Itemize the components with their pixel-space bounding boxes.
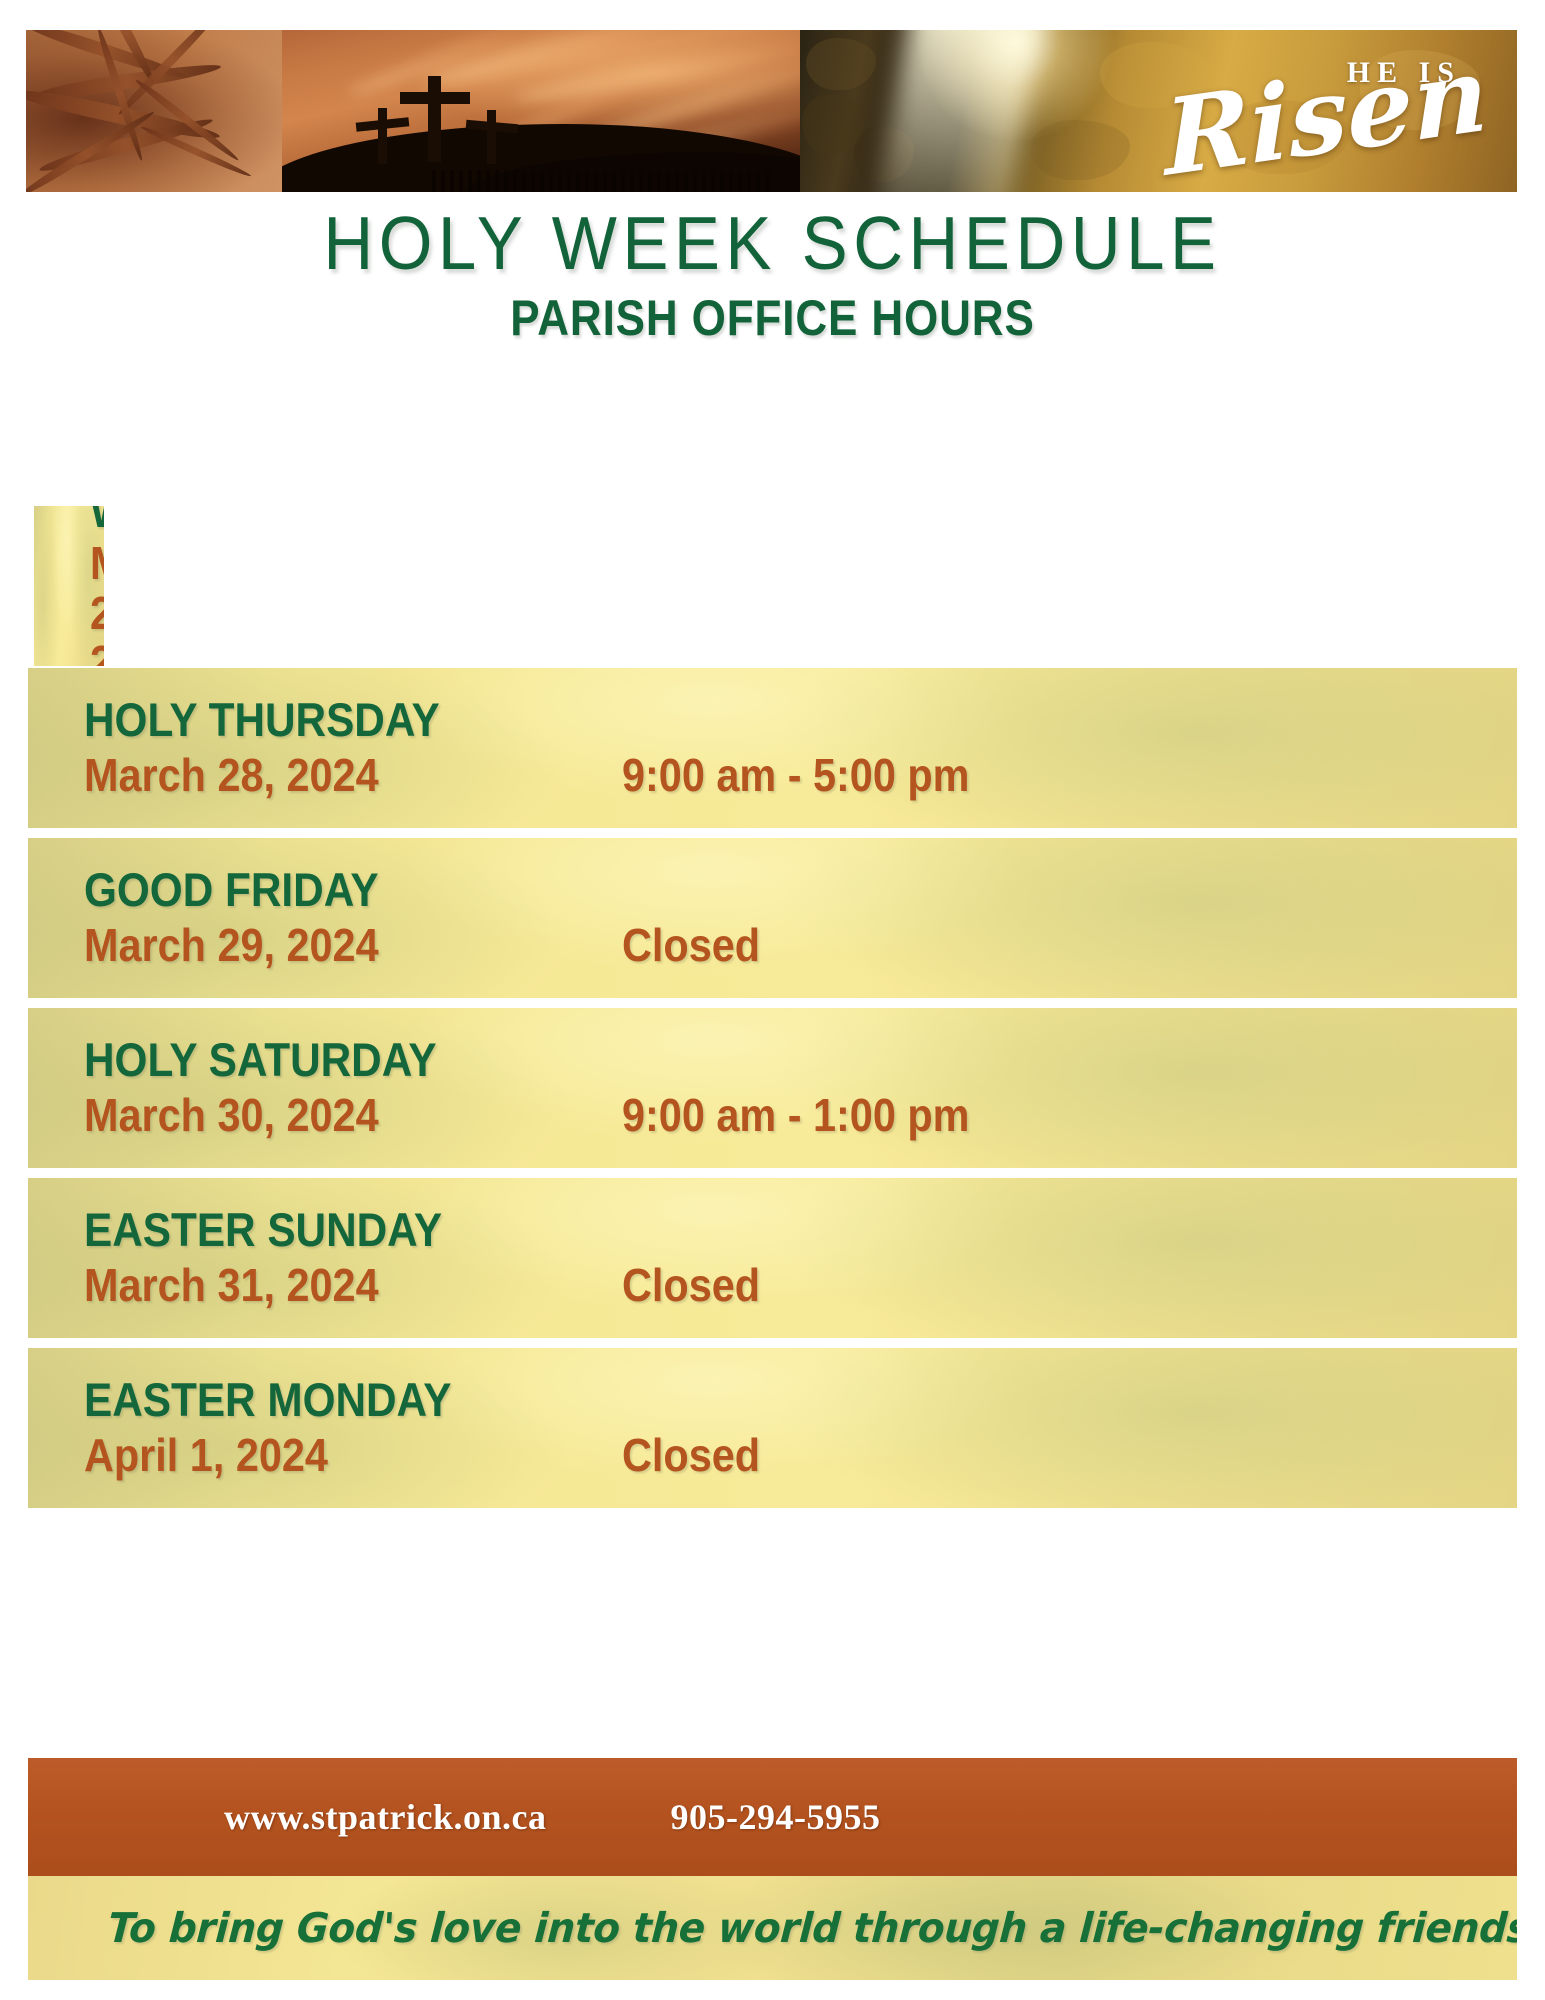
crown-of-thorns-photo	[26, 30, 282, 192]
website-link[interactable]: www.stpatrick.on.ca	[224, 1796, 547, 1838]
schedule-hours-label: Closed	[622, 1431, 760, 1481]
three-crosses-sunset-photo	[282, 30, 800, 192]
phone-number[interactable]: 905-294-5955	[671, 1796, 881, 1838]
schedule-row: EASTER SUNDAY March 31, 2024 Closed	[28, 1178, 1517, 1338]
schedule-day-label: HOLY SATURDAY	[84, 1035, 1374, 1086]
schedule-hours-label: 9:00 am - 1:00 pm	[622, 1091, 969, 1141]
schedule-row: GOOD FRIDAY March 29, 2024 Closed	[28, 838, 1517, 998]
schedule-date-label: March 31, 2024	[84, 1261, 507, 1311]
tagline-bar: To bring God's love into the world throu…	[28, 1876, 1517, 1980]
page-subtitle: PARISH OFFICE HOURS	[93, 293, 1453, 343]
schedule-date-label: March 30, 2024	[84, 1091, 507, 1141]
schedule-row: EASTER MONDAY April 1, 2024 Closed	[28, 1348, 1517, 1508]
mission-tagline: To bring God's love into the world throu…	[106, 1904, 1517, 1952]
risen-script-label: Risen	[1162, 41, 1489, 191]
schedule-row: HOLY SATURDAY March 30, 2024 9:00 am - 1…	[28, 1008, 1517, 1168]
schedule-date-label: March 28, 2024	[84, 751, 507, 801]
left-cross-icon	[378, 108, 387, 164]
schedule-hours-label: 9:00 am - 5:00 pm	[622, 751, 969, 801]
schedule-date-label: March 29, 2024	[84, 921, 507, 971]
page-title: HOLY WEEK SCHEDULE	[62, 206, 1483, 281]
schedule-date-label: April 1, 2024	[84, 1431, 507, 1481]
schedule-day-label: MONDAY, TUESDAY, WEDNESDAY	[90, 506, 103, 537]
schedule-day-label: HOLY THURSDAY	[84, 695, 1374, 746]
schedule-list: MONDAY, TUESDAY, WEDNESDAY March 25-27, …	[28, 498, 1517, 1518]
schedule-day-label: EASTER MONDAY	[84, 1375, 1374, 1426]
schedule-row: HOLY THURSDAY March 28, 2024 9:00 am - 5…	[28, 668, 1517, 828]
schedule-hours-label: Closed	[622, 1261, 760, 1311]
schedule-row: MONDAY, TUESDAY, WEDNESDAY March 25-27, …	[34, 506, 104, 666]
schedule-date-label: March 25-27, 2024	[90, 539, 104, 666]
right-cross-icon	[487, 110, 496, 164]
schedule-hours-label: Closed	[622, 921, 760, 971]
header-banner: HE IS Risen	[26, 30, 1517, 192]
empty-tomb-photo: HE IS Risen	[800, 30, 1517, 192]
contact-bar: www.stpatrick.on.ca 905-294-5955	[28, 1758, 1517, 1876]
center-cross-icon	[428, 76, 441, 162]
schedule-day-label: GOOD FRIDAY	[84, 865, 1374, 916]
light-beam	[871, 30, 1042, 192]
title-block: HOLY WEEK SCHEDULE PARISH OFFICE HOURS	[0, 206, 1545, 343]
schedule-day-label: EASTER SUNDAY	[84, 1205, 1374, 1256]
